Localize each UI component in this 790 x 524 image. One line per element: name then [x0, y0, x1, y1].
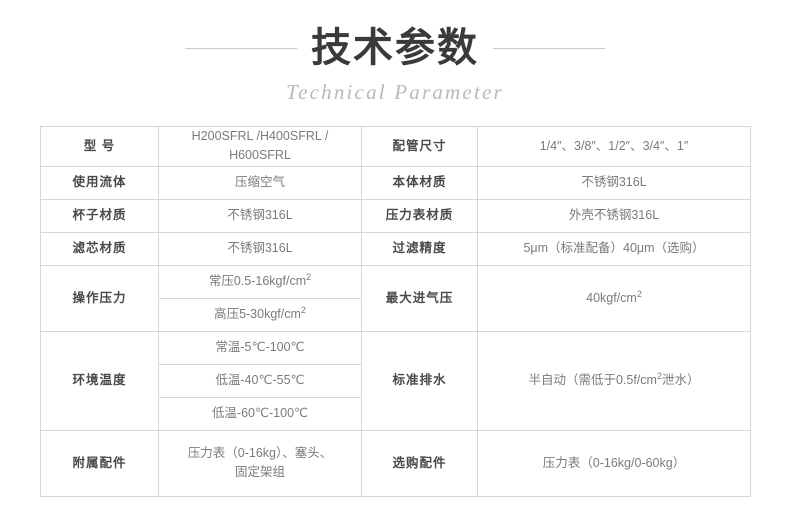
table-row: 环境温度 常温-5℃-100℃ 标准排水 半自动（需低于0.5f/cm2泄水） [41, 331, 751, 364]
row-value-gauge-material: 外壳不锈钢316L [478, 199, 751, 232]
row-label-pipe-size: 配管尺寸 [362, 127, 478, 167]
row-label-ambient-temperature: 环境温度 [41, 331, 159, 430]
row-label-fluid: 使用流体 [41, 166, 159, 199]
row-value-operating-pressure-normal: 常压0.5-16kgf/cm2 [159, 265, 362, 298]
row-value-temp-low-40: 低温-40℃-55℃ [159, 364, 362, 397]
drain-text-post: 泄水） [662, 374, 700, 388]
max-inlet-unit-sup: 2 [637, 289, 642, 299]
page-subtitle: Technical Parameter [0, 80, 790, 105]
row-value-pipe-size: 1/4″、3/8″、1/2″、3/4″、1″ [478, 127, 751, 167]
row-label-element-material: 滤芯材质 [41, 232, 159, 265]
max-inlet-text: 40kgf/cm [586, 291, 637, 305]
row-value-optional-accessories: 压力表（0-16kg/0-60kg） [478, 430, 751, 496]
row-label-model: 型 号 [41, 127, 159, 167]
row-value-temp-normal: 常温-5℃-100℃ [159, 331, 362, 364]
pressure-high-text: 高压5-30kgf/cm [214, 308, 301, 322]
table-row: 滤芯材质 不锈钢316L 过滤精度 5μm（标准配备）40μm（选购） [41, 232, 751, 265]
row-label-bowl-material: 杯子材质 [41, 199, 159, 232]
row-label-optional-accessories: 选购配件 [362, 430, 478, 496]
table-row: 型 号 H200SFRL /H400SFRL / H600SFRL 配管尺寸 1… [41, 127, 751, 167]
row-label-included-accessories: 附属配件 [41, 430, 159, 496]
row-value-standard-drain: 半自动（需低于0.5f/cm2泄水） [478, 331, 751, 430]
row-value-included-accessories: 压力表（0-16kg）、塞头、 固定架组 [159, 430, 362, 496]
row-value-fluid: 压缩空气 [159, 166, 362, 199]
pressure-normal-text: 常压0.5-16kgf/cm [209, 275, 306, 289]
row-value-model: H200SFRL /H400SFRL / H600SFRL [159, 127, 362, 167]
title-row: 技术参数 [0, 27, 790, 69]
table-row: 附属配件 压力表（0-16kg）、塞头、 固定架组 选购配件 压力表（0-16k… [41, 430, 751, 496]
row-value-max-inlet-pressure: 40kgf/cm2 [478, 265, 751, 331]
row-value-filtration: 5μm（标准配备）40μm（选购） [478, 232, 751, 265]
row-value-body-material: 不锈钢316L [478, 166, 751, 199]
row-value-temp-low-60: 低温-60℃-100℃ [159, 397, 362, 430]
drain-text-pre: 半自动（需低于0.5f/cm [528, 374, 657, 388]
table-row: 操作压力 常压0.5-16kgf/cm2 最大进气压 40kgf/cm2 [41, 265, 751, 298]
pressure-normal-unit-sup: 2 [306, 272, 311, 282]
row-value-bowl-material: 不锈钢316L [159, 199, 362, 232]
row-label-filtration: 过滤精度 [362, 232, 478, 265]
spec-table-wrapper: 型 号 H200SFRL /H400SFRL / H600SFRL 配管尺寸 1… [40, 126, 750, 497]
row-label-body-material: 本体材质 [362, 166, 478, 199]
accessories-line-1: 压力表（0-16kg）、塞头、 [165, 444, 355, 463]
title-rule-right [493, 48, 605, 49]
table-row: 使用流体 压缩空气 本体材质 不锈钢316L [41, 166, 751, 199]
page-title: 技术参数 [311, 27, 479, 69]
row-label-max-inlet-pressure: 最大进气压 [362, 265, 478, 331]
row-value-element-material: 不锈钢316L [159, 232, 362, 265]
spec-table: 型 号 H200SFRL /H400SFRL / H600SFRL 配管尺寸 1… [40, 126, 751, 497]
row-label-operating-pressure: 操作压力 [41, 265, 159, 331]
accessories-line-2: 固定架组 [165, 463, 355, 482]
row-label-gauge-material: 压力表材质 [362, 199, 478, 232]
page-header: 技术参数 Technical Parameter [0, 0, 790, 105]
title-rule-left [185, 48, 297, 49]
row-label-standard-drain: 标准排水 [362, 331, 478, 430]
row-value-operating-pressure-high: 高压5-30kgf/cm2 [159, 298, 362, 331]
table-row: 杯子材质 不锈钢316L 压力表材质 外壳不锈钢316L [41, 199, 751, 232]
pressure-high-unit-sup: 2 [301, 305, 306, 315]
